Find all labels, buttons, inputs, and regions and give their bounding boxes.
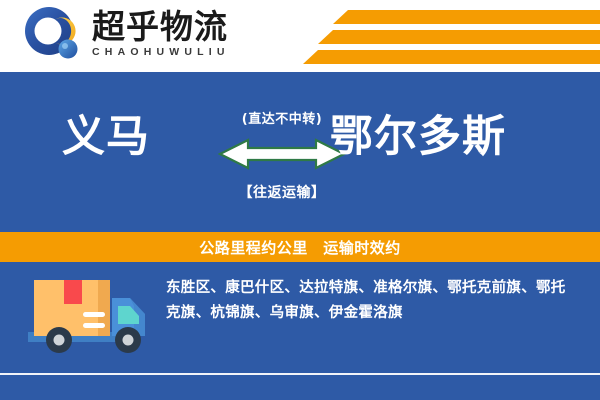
- crescent-circle-logo-icon: [22, 4, 84, 66]
- brand-text: 超乎物流 CHAOHUWULIU: [92, 9, 230, 61]
- brand-logo: 超乎物流 CHAOHUWULIU: [22, 4, 230, 66]
- coverage-area-panel: 东胜区、康巴什区、达拉特旗、准格尔旗、鄂托克前旗、鄂托克旗、杭锦旗、乌审旗、伊金…: [0, 262, 600, 373]
- distance-duration-text: 公路里程约公里 运输时效约: [199, 237, 401, 258]
- origin-city: 义马: [62, 116, 150, 159]
- distance-duration-bar: 公路里程约公里 运输时效约: [0, 232, 600, 262]
- banner-header: 超乎物流 CHAOHUWULIU: [0, 0, 600, 72]
- double-headed-arrow-icon: [218, 132, 346, 180]
- footer-strip: [0, 375, 600, 400]
- route-arrow-group: (直达不中转) 【往返运输】: [218, 108, 346, 204]
- orange-stripes-decoration: [300, 10, 600, 68]
- brand-name-en: CHAOHUWULIU: [92, 46, 230, 59]
- destination-city: 鄂尔多斯: [330, 116, 506, 159]
- round-trip-note: 【往返运输】: [218, 182, 346, 202]
- route-banner: 义马 (直达不中转) 【往返运输】 鄂尔多斯: [0, 72, 600, 230]
- logistics-route-banner: 超乎物流 CHAOHUWULIU 义马 (直达不中转) 【往返运输】 鄂尔多斯: [0, 0, 600, 400]
- delivery-truck-icon: [26, 276, 151, 364]
- direct-shipping-note: (直达不中转): [218, 108, 346, 127]
- coverage-line-1: 东胜区、康巴什区、达拉特旗、准格尔旗、鄂托克前旗: [166, 280, 521, 296]
- coverage-area-list: 东胜区、康巴什区、达拉特旗、准格尔旗、鄂托克前旗、鄂托克旗、杭锦旗、乌审旗、伊金…: [166, 276, 580, 326]
- brand-name-cn: 超乎物流: [92, 9, 230, 45]
